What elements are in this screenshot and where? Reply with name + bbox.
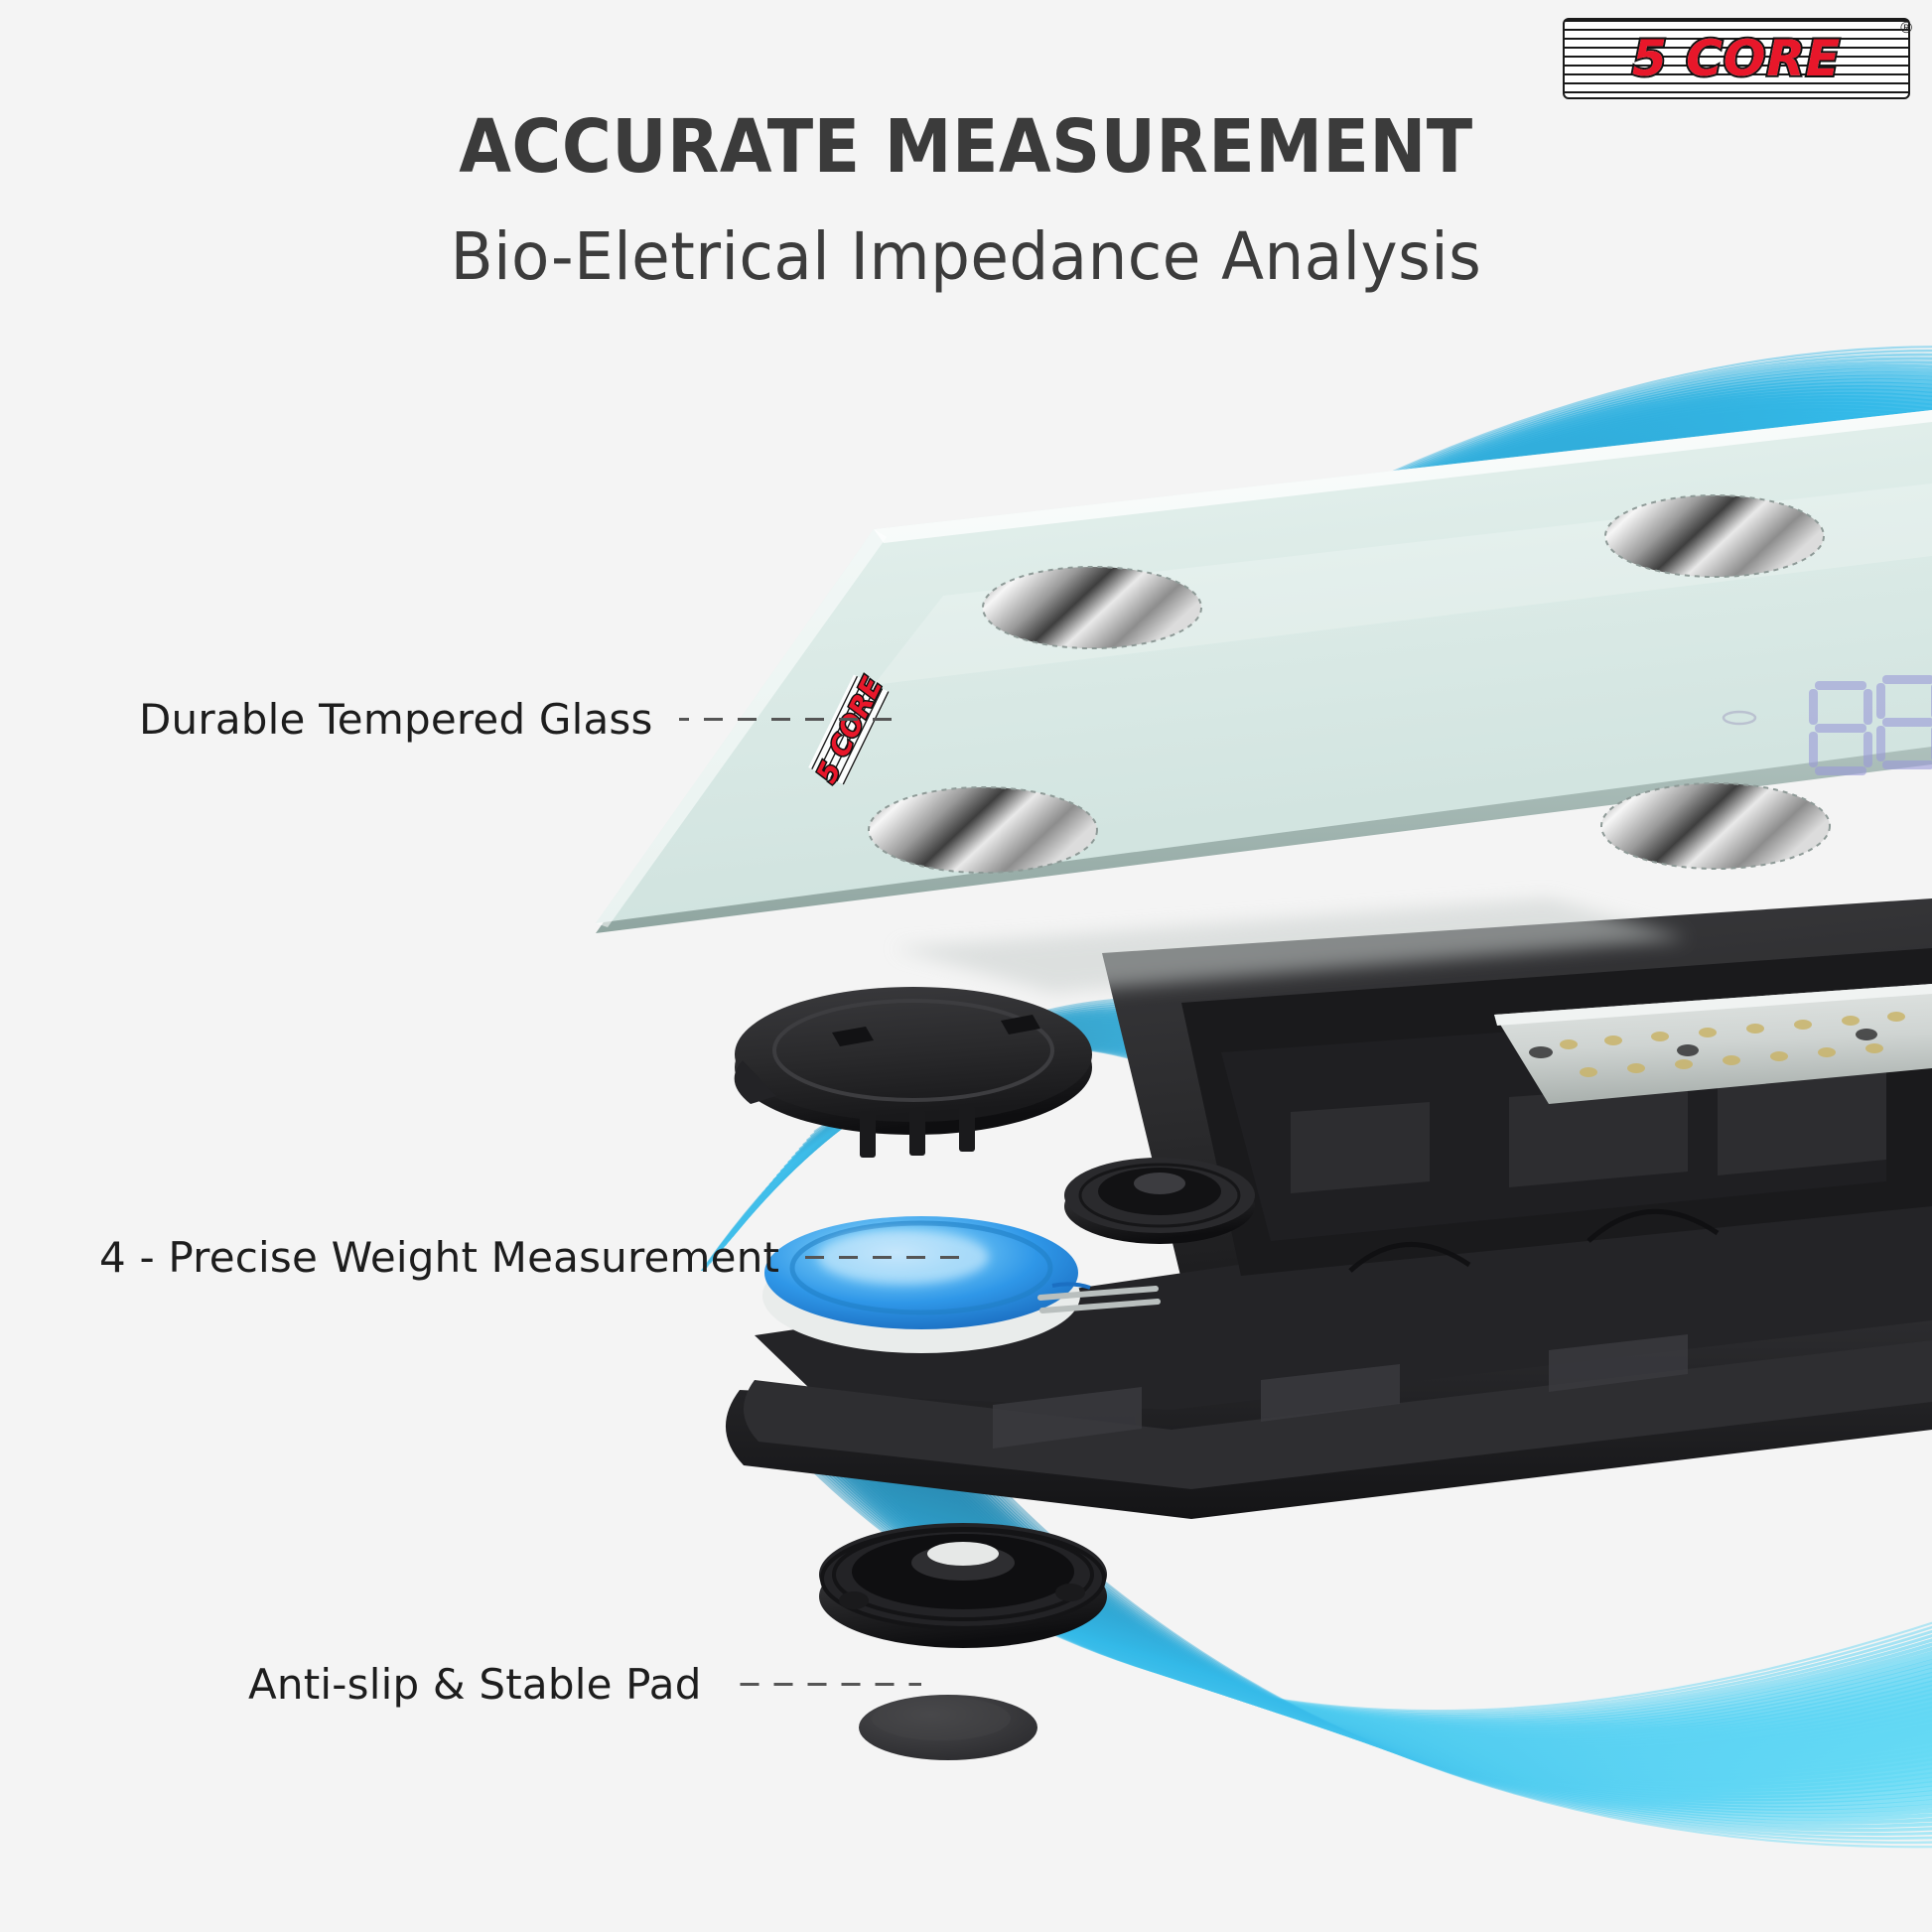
sensor-cover-cap (735, 987, 1092, 1158)
callout-durable-tempered-glass: Durable Tempered Glass (139, 695, 897, 744)
electrode-pad (869, 787, 1097, 873)
callout-precise-weight-measurement: 4 - Precise Weight Measurement (99, 1233, 974, 1282)
leader-line (679, 718, 897, 721)
load-cell-ring-upper (1064, 1158, 1255, 1244)
anti-slip-foot-module (819, 1523, 1107, 1648)
callout-label: Durable Tempered Glass (139, 695, 653, 744)
leader-line (805, 1256, 974, 1259)
leader-line (728, 1683, 921, 1686)
callout-label: Anti-slip & Stable Pad (248, 1660, 702, 1709)
callout-label: 4 - Precise Weight Measurement (99, 1233, 779, 1282)
callout-anti-slip-stable-pad: Anti-slip & Stable Pad (248, 1660, 921, 1709)
product-exploded-view: 5 CORE (0, 0, 1932, 1932)
electrode-pad (1601, 783, 1830, 869)
electrode-pad (1605, 495, 1824, 577)
infographic-canvas: 5 CORE ® ACCURATE MEASUREMENT Bio-Eletri… (0, 0, 1932, 1932)
tempered-glass-platform: 5 CORE (596, 410, 1932, 933)
electrode-pad (983, 567, 1201, 648)
